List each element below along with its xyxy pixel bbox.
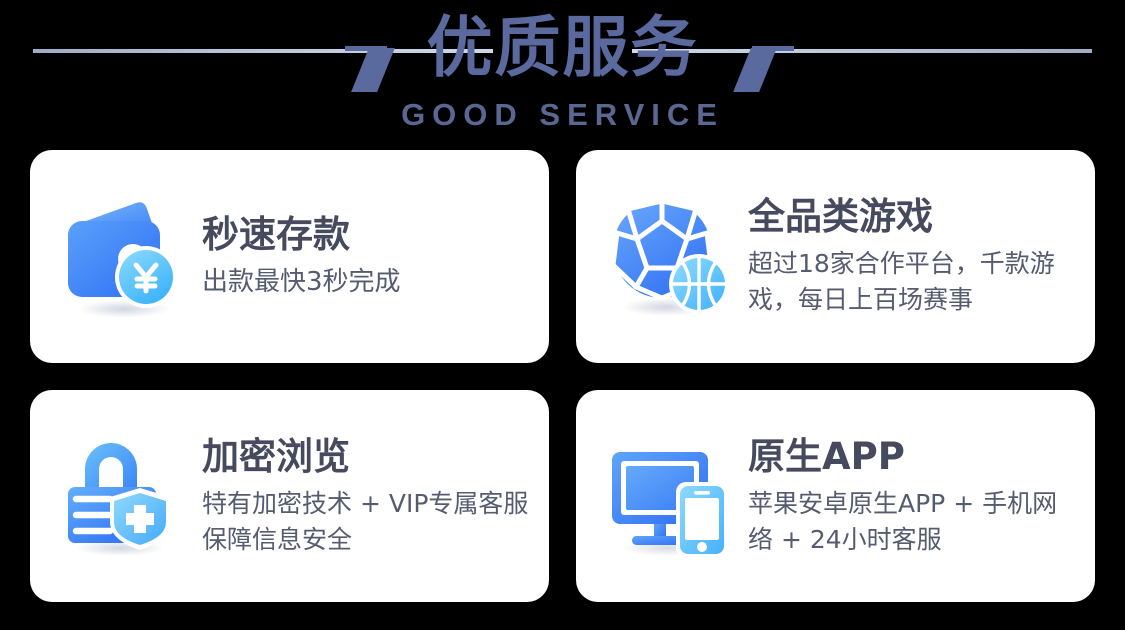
card-text-block: 加密浏览 特有加密技术 + VIP专属客服保障信息安全 — [202, 435, 531, 558]
service-card-encryption[interactable]: 加密浏览 特有加密技术 + VIP专属客服保障信息安全 — [30, 390, 549, 602]
card-text-block: 秒速存款 出款最快3秒完成 — [202, 213, 531, 300]
service-card-deposit[interactable]: 秒速存款 出款最快3秒完成 — [30, 150, 549, 363]
card-description: 出款最快3秒完成 — [202, 264, 531, 300]
page-title: 优质服务 — [0, 8, 1125, 88]
page-subtitle: GOOD SERVICE — [0, 97, 1125, 133]
page-header: 优质服务 GOOD SERVICE — [0, 0, 1125, 145]
service-card-grid: 秒速存款 出款最快3秒完成 — [30, 150, 1095, 602]
card-description: 苹果安卓原生APP + 手机网络 + 24小时客服 — [748, 486, 1077, 558]
card-text-block: 原生APP 苹果安卓原生APP + 手机网络 + 24小时客服 — [748, 435, 1077, 558]
wallet-yen-icon — [58, 191, 190, 323]
soccer-basketball-icon — [604, 191, 736, 323]
card-title: 原生APP — [748, 435, 1077, 479]
card-title: 秒速存款 — [202, 213, 531, 257]
card-title: 全品类游戏 — [748, 195, 1077, 239]
monitor-phone-icon — [604, 430, 736, 562]
card-title: 加密浏览 — [202, 435, 531, 479]
card-text-block: 全品类游戏 超过18家合作平台，千款游戏，每日上百场赛事 — [748, 195, 1077, 318]
service-card-native-app[interactable]: 原生APP 苹果安卓原生APP + 手机网络 + 24小时客服 — [576, 390, 1095, 602]
card-description: 特有加密技术 + VIP专属客服保障信息安全 — [202, 486, 531, 558]
lock-shield-icon — [58, 430, 190, 562]
service-card-games[interactable]: 全品类游戏 超过18家合作平台，千款游戏，每日上百场赛事 — [576, 150, 1095, 363]
card-description: 超过18家合作平台，千款游戏，每日上百场赛事 — [748, 246, 1077, 318]
